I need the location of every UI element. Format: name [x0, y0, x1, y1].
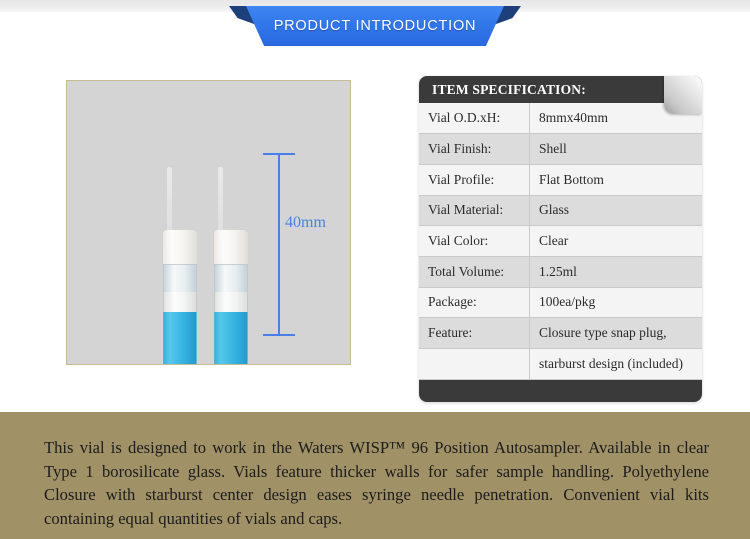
- page-curl-icon: [664, 76, 702, 114]
- description-text: This vial is designed to work in the Wat…: [44, 436, 709, 530]
- spec-label: Total Volume:: [419, 256, 530, 287]
- table-row: Vial O.D.xH: 8mmx40mm: [419, 103, 702, 134]
- page-banner: PRODUCT INTRODUCTION: [0, 0, 750, 58]
- ribbon-body: PRODUCT INTRODUCTION: [246, 6, 504, 46]
- table-row: Package: 100ea/pkg: [419, 287, 702, 318]
- vial-neck: [214, 264, 248, 293]
- spec-value: 100ea/pkg: [530, 287, 703, 318]
- dimension-line: [278, 153, 280, 336]
- product-image: 40mm: [66, 80, 351, 365]
- spec-label: Vial Color:: [419, 226, 530, 257]
- vial-shoulder: [214, 292, 248, 313]
- spec-label: Feature:: [419, 318, 530, 349]
- table-row: Vial Material: Glass: [419, 195, 702, 226]
- spec-value: starburst design (included): [530, 349, 703, 380]
- vial-left-gloss: [167, 167, 172, 263]
- table-row: Feature: Closure type snap plug,: [419, 318, 702, 349]
- vial-right-gloss: [218, 167, 223, 263]
- page-title: PRODUCT INTRODUCTION: [274, 18, 477, 34]
- spec-table: Vial O.D.xH: 8mmx40mm Vial Finish: Shell…: [419, 103, 702, 380]
- vial-shoulder: [163, 292, 197, 313]
- spec-label: Vial Finish:: [419, 134, 530, 165]
- spec-value: Closure type snap plug,: [530, 318, 703, 349]
- spec-label: Vial O.D.xH:: [419, 103, 530, 134]
- table-row: starburst design (included): [419, 349, 702, 380]
- item-specification-card: ITEM SPECIFICATION: Vial O.D.xH: 8mmx40m…: [419, 76, 702, 402]
- spec-label: [419, 349, 530, 380]
- spec-value: Glass: [530, 195, 703, 226]
- table-row: Vial Color: Clear: [419, 226, 702, 257]
- spec-value: Flat Bottom: [530, 164, 703, 195]
- dimension-label: 40mm: [285, 214, 326, 232]
- spec-label: Package:: [419, 287, 530, 318]
- spec-header: ITEM SPECIFICATION:: [419, 76, 702, 103]
- spec-footer-bar: [419, 380, 702, 402]
- table-row: Vial Finish: Shell: [419, 134, 702, 165]
- vial-neck: [163, 264, 197, 293]
- table-row: Vial Profile: Flat Bottom: [419, 164, 702, 195]
- spec-header-label: ITEM SPECIFICATION:: [432, 82, 586, 98]
- vial-body-liquid: [214, 312, 248, 365]
- vial-body-liquid: [163, 312, 197, 365]
- spec-value: Shell: [530, 134, 703, 165]
- spec-value: Clear: [530, 226, 703, 257]
- spec-label: Vial Profile:: [419, 164, 530, 195]
- spec-value: 1.25ml: [530, 256, 703, 287]
- description-band: This vial is designed to work in the Wat…: [0, 412, 750, 539]
- table-row: Total Volume: 1.25ml: [419, 256, 702, 287]
- spec-label: Vial Material:: [419, 195, 530, 226]
- dimension-cap-bottom: [263, 334, 295, 336]
